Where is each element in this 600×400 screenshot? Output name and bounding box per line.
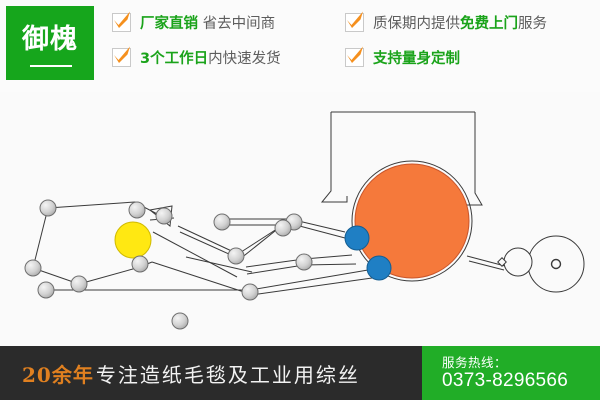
felt-run-middle [186, 255, 356, 274]
feature-label: 支持量身定制 [373, 47, 460, 68]
feature-rest: 内快速发货 [208, 51, 281, 67]
feature-highlight: 3个工作日 [140, 51, 208, 67]
orange-check-icon [112, 48, 131, 67]
feature-rest: 省去中间商 [198, 16, 275, 32]
feature-label: 3个工作日内快速发货 [140, 47, 281, 68]
orange-check-icon [345, 13, 364, 32]
feature-label: 厂家直销 省去中间商 [140, 12, 275, 33]
feature-rest: 服务 [518, 16, 547, 32]
guide-roller [214, 214, 230, 230]
guide-roller [40, 200, 56, 216]
footer-years: 20余年 [22, 359, 94, 388]
hotline-number[interactable]: 0373-8296566 [442, 370, 568, 392]
feature-custom-made: 支持量身定制 [345, 47, 460, 68]
suction-roll-yellow [115, 222, 151, 258]
footer-slogan: 20余年专注造纸毛毯及工业用综丝 [22, 346, 360, 400]
feature-highlight: 厂家直销 [140, 16, 198, 32]
guide-roller [132, 256, 148, 272]
press-roll-lower [367, 256, 391, 280]
guide-roller [275, 220, 291, 236]
guide-roller [129, 202, 145, 218]
brand-logo-underline [30, 65, 72, 67]
brand-logo-text: 御槐 [22, 26, 78, 61]
promo-banner-page: 御槐 厂家直销 省去中间商 质保期内提供免费上门服务 [0, 0, 600, 400]
feature-fast-shipping: 3个工作日内快速发货 [112, 47, 281, 68]
guide-roller [38, 282, 54, 298]
felt-run-bottom [48, 270, 372, 295]
feature-lead: 质保期内提供 [373, 16, 460, 32]
guide-roller [25, 260, 41, 276]
guide-roller [242, 284, 258, 300]
footer-bar: 20余年专注造纸毛毯及工业用综丝 服务热线： 0373-8296566 [0, 346, 600, 400]
orange-check-icon [345, 48, 364, 67]
reel-carrier-roll [504, 248, 532, 276]
guide-roller [156, 208, 172, 224]
header-bar: 御槐 厂家直销 省去中间商 质保期内提供免费上门服务 [0, 0, 600, 92]
feature-label: 质保期内提供免费上门服务 [373, 12, 547, 33]
orange-check-icon [112, 13, 131, 32]
press-roll-upper [345, 226, 369, 250]
feature-warranty-service: 质保期内提供免费上门服务 [345, 12, 547, 33]
brand-logo[interactable]: 御槐 [6, 6, 94, 80]
feature-highlight: 支持量身定制 [373, 51, 460, 67]
guide-roller [71, 276, 87, 292]
guide-roller [228, 248, 244, 264]
hotline-panel[interactable]: 服务热线： 0373-8296566 [422, 346, 600, 400]
felt-run-upper-center [178, 219, 345, 259]
feature-factory-direct: 厂家直销 省去中间商 [112, 12, 275, 33]
feature-highlight: 免费上门 [460, 16, 518, 32]
paper-machine-schematic [0, 92, 600, 346]
hotline-label: 服务热线： [442, 355, 507, 370]
reel-drum-shaft [552, 260, 561, 269]
guide-roller [296, 254, 312, 270]
guide-roller [172, 313, 188, 329]
footer-slogan-text: 专注造纸毛毯及工业用综丝 [96, 359, 360, 388]
